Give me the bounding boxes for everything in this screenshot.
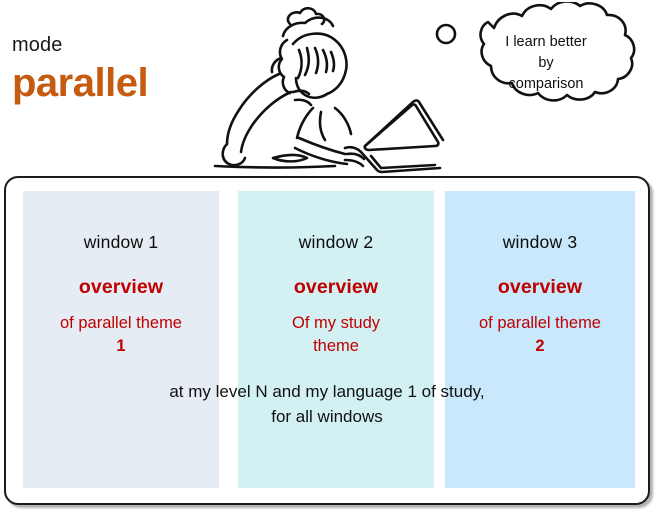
- forearm-to-laptop: [299, 138, 345, 154]
- window-3-title: window 3: [445, 232, 635, 253]
- thought-line-1: I learn better: [466, 32, 626, 53]
- window-2-subtitle: Of my study theme: [238, 313, 434, 358]
- mode-label: mode: [12, 34, 62, 57]
- windows-frame: window 1 overview of parallel theme 1 wi…: [4, 176, 650, 505]
- window-1-heading: overview: [23, 276, 219, 299]
- hair-strand-2: [305, 48, 309, 75]
- shoulder-right: [335, 108, 351, 134]
- window-panel-2[interactable]: window 2 overview Of my study theme: [238, 191, 434, 488]
- hand-on-keyboard: [345, 147, 361, 152]
- hair-strand-1: [298, 50, 302, 78]
- window-panel-3[interactable]: window 3 overview of parallel theme 2: [445, 191, 635, 488]
- chin: [296, 78, 327, 98]
- braid-loops: [279, 40, 290, 93]
- thought-dot-small: [437, 25, 455, 43]
- hair-strand-4: [323, 50, 327, 72]
- window-3-subtitle: of parallel theme 2: [445, 313, 635, 358]
- thought-line-3: comparison: [466, 74, 626, 95]
- laptop-keyboard-edge: [371, 156, 435, 168]
- window-2-subtitle-text: Of my study: [292, 314, 380, 332]
- window-2-heading: overview: [238, 276, 434, 299]
- arm-lower-left: [241, 92, 291, 152]
- fingers-chin: [295, 100, 311, 105]
- desk-object: [273, 155, 307, 161]
- window-1-number: 1: [27, 336, 215, 358]
- hair-strand-5: [331, 52, 334, 71]
- person-studying-at-laptop-illustration: [195, 0, 445, 176]
- desk-surface: [215, 166, 335, 168]
- torso-center: [320, 112, 325, 140]
- torso-left: [297, 108, 313, 138]
- window-3-heading: overview: [445, 276, 635, 299]
- laptop-base: [361, 152, 440, 172]
- window-1-title: window 1: [23, 232, 219, 253]
- window-2-title: window 2: [238, 232, 434, 253]
- window-3-subtitle-text: of parallel theme: [479, 314, 601, 332]
- window-panel-1[interactable]: window 1 overview of parallel theme 1: [23, 191, 219, 488]
- window-2-number: theme: [242, 336, 430, 358]
- header-area: mode parallel: [0, 0, 656, 175]
- thought-line-2: by: [466, 53, 626, 74]
- window-3-number: 2: [449, 336, 631, 358]
- window-1-subtitle-text: of parallel theme: [60, 314, 182, 332]
- fingers-keyboard-1: [347, 154, 364, 159]
- mode-value: parallel: [12, 62, 148, 104]
- hair-strand-3: [315, 48, 318, 73]
- arm-upper-left: [227, 74, 279, 144]
- window-1-subtitle: of parallel theme 1: [23, 313, 219, 358]
- thought-bubble-text: I learn better by comparison: [466, 32, 626, 95]
